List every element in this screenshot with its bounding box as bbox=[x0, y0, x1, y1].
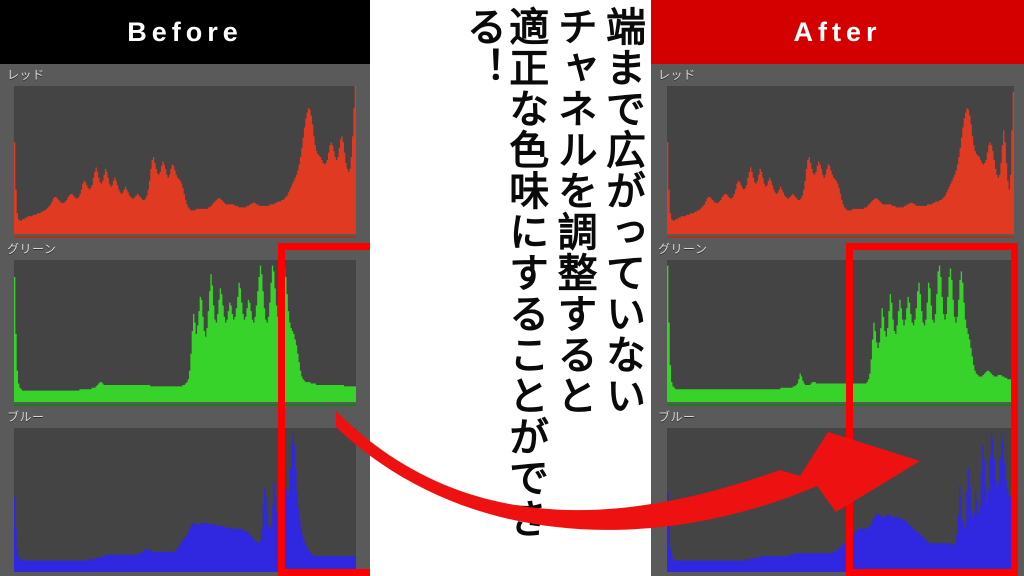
after-red-histogram-svg bbox=[667, 86, 1014, 234]
after-blue-label: ブルー bbox=[658, 408, 696, 425]
after-title: After bbox=[793, 17, 881, 48]
caption-columns: 端まで広がっていない チャネルを調整すると 適正な色味にすることができる！ bbox=[455, 6, 643, 576]
caption-line-1: 端まで広がっていない bbox=[601, 6, 643, 576]
empty-highlights-region bbox=[278, 243, 370, 576]
after-green-label: グリーン bbox=[658, 240, 707, 257]
caption-panel: 端まで広がっていない チャネルを調整すると 適正な色味にすることができる！ bbox=[371, 0, 651, 576]
before-green-label: グリーン bbox=[7, 240, 56, 257]
filled-highlights-region bbox=[846, 243, 1018, 576]
comparison-infographic: Before レッド グリーン ブルー bbox=[0, 0, 1024, 576]
after-red-histogram bbox=[667, 86, 1014, 234]
after-header: After bbox=[651, 0, 1024, 64]
before-blue-label: ブルー bbox=[7, 408, 45, 425]
after-red-label: レッド bbox=[658, 66, 696, 83]
before-title: Before bbox=[127, 17, 243, 48]
before-red-label: レッド bbox=[7, 66, 45, 83]
after-red-channel-block: レッド bbox=[651, 64, 1024, 238]
caption-line-3: 適正な色味にすることができる！ bbox=[461, 6, 546, 576]
caption-line-2: チャネルを調整すると bbox=[552, 6, 594, 576]
before-red-histogram-svg bbox=[14, 86, 356, 234]
before-red-channel-block: レッド bbox=[0, 64, 370, 238]
before-header: Before bbox=[0, 0, 370, 64]
before-red-histogram bbox=[14, 86, 356, 234]
